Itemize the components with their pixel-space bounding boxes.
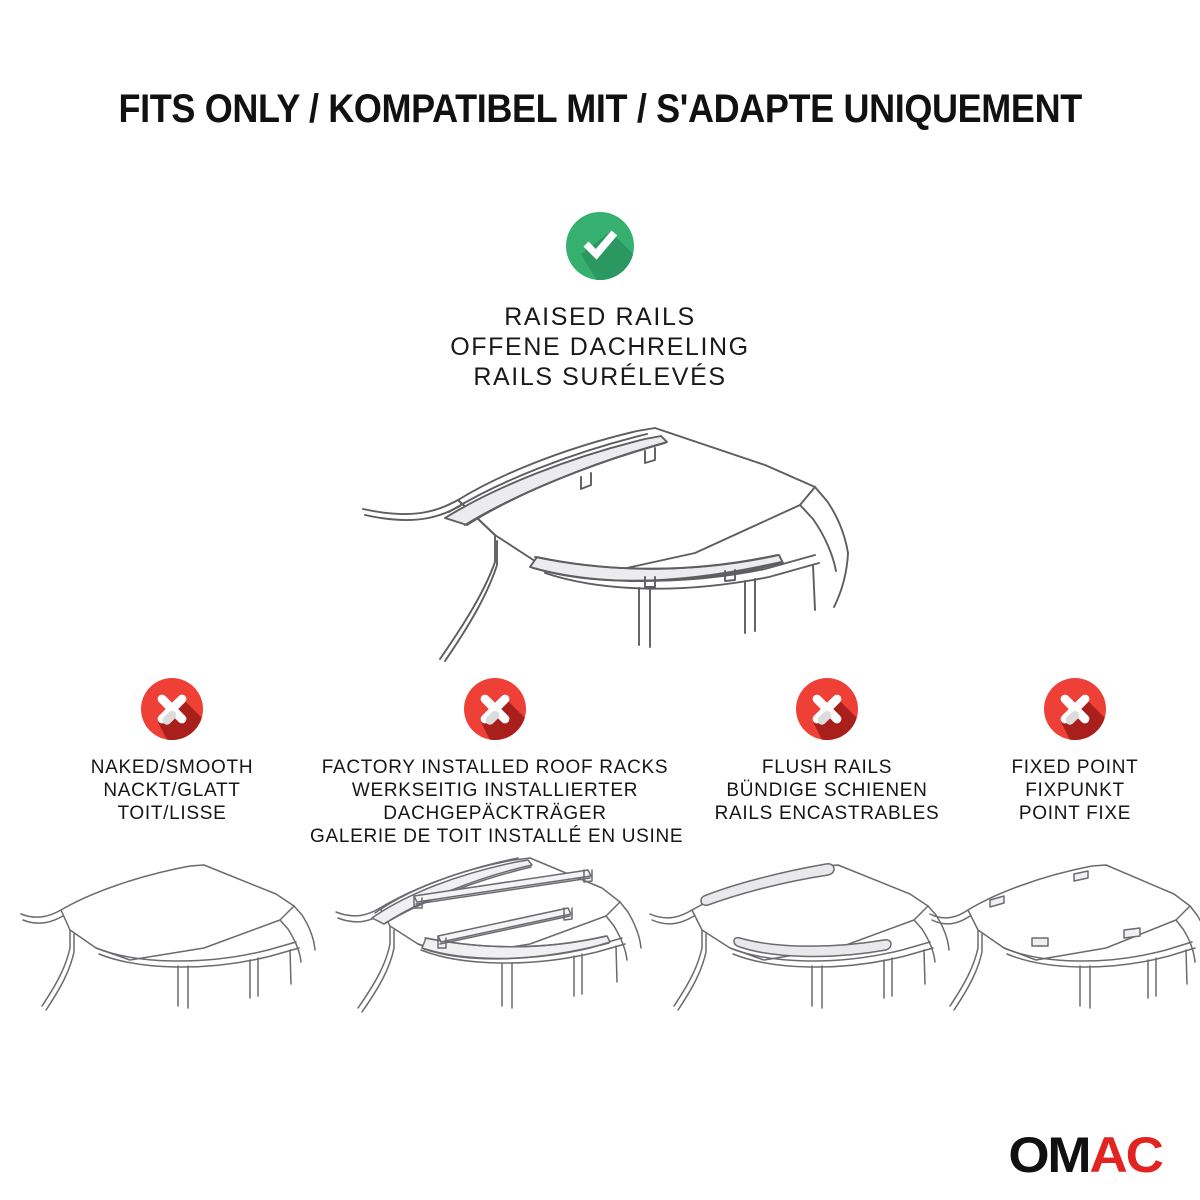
- rejected-label-group: FLUSH RAILS BÜNDIGE SCHIENEN RAILS ENCAS…: [682, 756, 972, 825]
- car-roof-naked-illustration: [18, 848, 318, 1033]
- rejected-option-fixed-point: FIXED POINT FIXPUNKT POINT FIXE: [950, 678, 1200, 825]
- rejected-label-en: FLUSH RAILS: [682, 756, 972, 779]
- rejected-label-group: NAKED/SMOOTH NACKT/GLATT TOIT/LISSE: [32, 756, 312, 825]
- rejected-option-flush-rails: FLUSH RAILS BÜNDIGE SCHIENEN RAILS ENCAS…: [682, 678, 972, 825]
- check-circle-icon: [566, 212, 634, 280]
- omac-logo: OMAC: [1009, 1128, 1162, 1182]
- title-bar: FITS ONLY / KOMPATIBEL MIT / S'ADAPTE UN…: [0, 86, 1200, 132]
- rejected-label-de-2: DACHGEPÄCKTRÄGER: [310, 802, 680, 825]
- approved-label-group: RAISED RAILS OFFENE DACHRELING RAILS SUR…: [0, 302, 1200, 392]
- approved-section: RAISED RAILS OFFENE DACHRELING RAILS SUR…: [0, 212, 1200, 392]
- rejected-label-fr: TOIT/LISSE: [32, 802, 312, 825]
- x-circle-icon: [1044, 678, 1106, 740]
- omac-logo-dark-part: OM: [1009, 1127, 1090, 1183]
- omac-logo-accent-part: AC: [1090, 1127, 1162, 1183]
- approved-label-en: RAISED RAILS: [0, 302, 1200, 332]
- car-roof-factory-crossbars-illustration: [318, 832, 658, 1032]
- x-circle-icon: [464, 678, 526, 740]
- rejected-label-de: FIXPUNKT: [950, 779, 1200, 802]
- x-circle-icon: [141, 678, 203, 740]
- car-roof-raised-rails-illustration: [345, 405, 865, 670]
- rejected-label-fr: POINT FIXE: [950, 802, 1200, 825]
- rejected-label-de: NACKT/GLATT: [32, 779, 312, 802]
- rejected-label-en: FACTORY INSTALLED ROOF RACKS: [310, 756, 680, 779]
- approved-label-fr: RAILS SURÉLEVÉS: [0, 362, 1200, 392]
- page-title: FITS ONLY / KOMPATIBEL MIT / S'ADAPTE UN…: [118, 86, 1081, 132]
- car-roof-fixed-point-illustration: [928, 848, 1200, 1033]
- rejected-label-group: FIXED POINT FIXPUNKT POINT FIXE: [950, 756, 1200, 825]
- car-roof-flush-rails-illustration: [648, 848, 958, 1033]
- rejected-option-naked-smooth: NAKED/SMOOTH NACKT/GLATT TOIT/LISSE: [32, 678, 312, 825]
- rejected-option-factory-roof-racks: FACTORY INSTALLED ROOF RACKS WERKSEITIG …: [310, 678, 680, 848]
- rejected-label-fr: RAILS ENCASTRABLES: [682, 802, 972, 825]
- rejected-label-en: FIXED POINT: [950, 756, 1200, 779]
- rejected-label-de: BÜNDIGE SCHIENEN: [682, 779, 972, 802]
- approved-label-de: OFFENE DACHRELING: [0, 332, 1200, 362]
- rejected-label-de-1: WERKSEITIG INSTALLIERTER: [310, 779, 680, 802]
- rejected-label-en: NAKED/SMOOTH: [32, 756, 312, 779]
- x-circle-icon: [796, 678, 858, 740]
